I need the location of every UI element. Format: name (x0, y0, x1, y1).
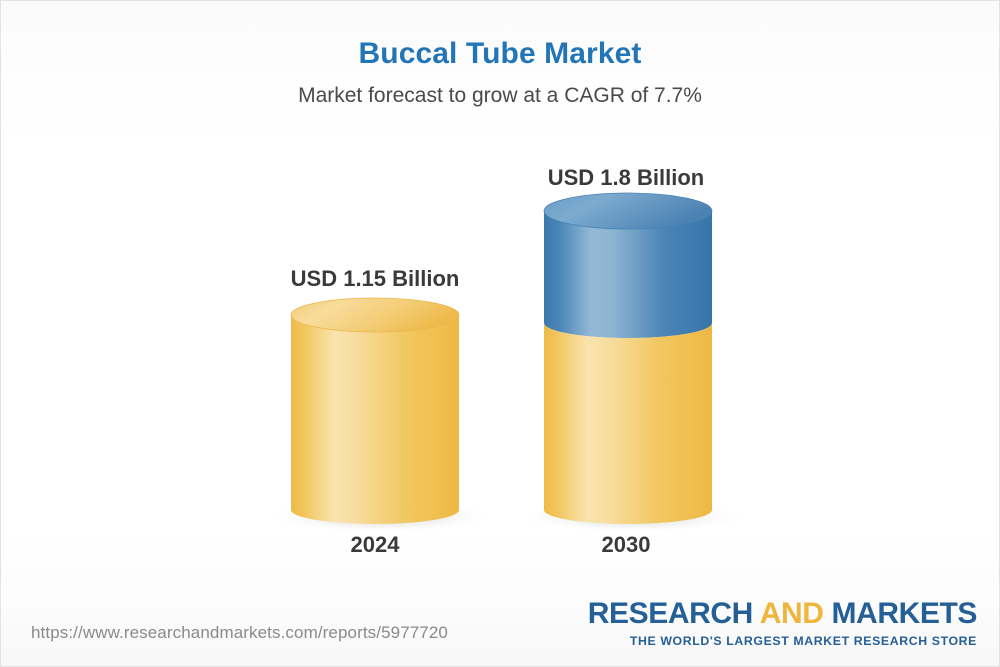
year-label-2030: 2030 (456, 532, 796, 558)
chart-plot-area: USD 1.15 Billion (1, 1, 1000, 667)
logo-wordmark: RESEARCH AND MARKETS (588, 599, 977, 629)
chart-canvas: Buccal Tube Market Market forecast to gr… (0, 0, 1000, 667)
value-label-2030: USD 1.8 Billion (456, 165, 796, 191)
research-and-markets-logo[interactable]: RESEARCH AND MARKETS THE WORLD'S LARGEST… (588, 599, 977, 648)
logo-word-research: RESEARCH (588, 597, 753, 630)
source-url[interactable]: https://www.researchandmarkets.com/repor… (31, 623, 448, 643)
bar-base-segment-2030 (544, 323, 712, 524)
bar-top-ellipse-2024 (291, 298, 459, 332)
bar-cylinder-2030 (523, 189, 743, 539)
logo-tagline: THE WORLD'S LARGEST MARKET RESEARCH STOR… (588, 634, 977, 648)
logo-word-and: AND (760, 597, 824, 630)
bar-cylinder-2024 (271, 291, 491, 541)
bar-top-ellipse-2030 (544, 193, 712, 229)
bar-growth-segment-2030 (544, 211, 712, 338)
logo-word-markets: MARKETS (831, 597, 977, 630)
value-label-2024: USD 1.15 Billion (205, 266, 545, 292)
bar-body-2024 (291, 315, 459, 524)
